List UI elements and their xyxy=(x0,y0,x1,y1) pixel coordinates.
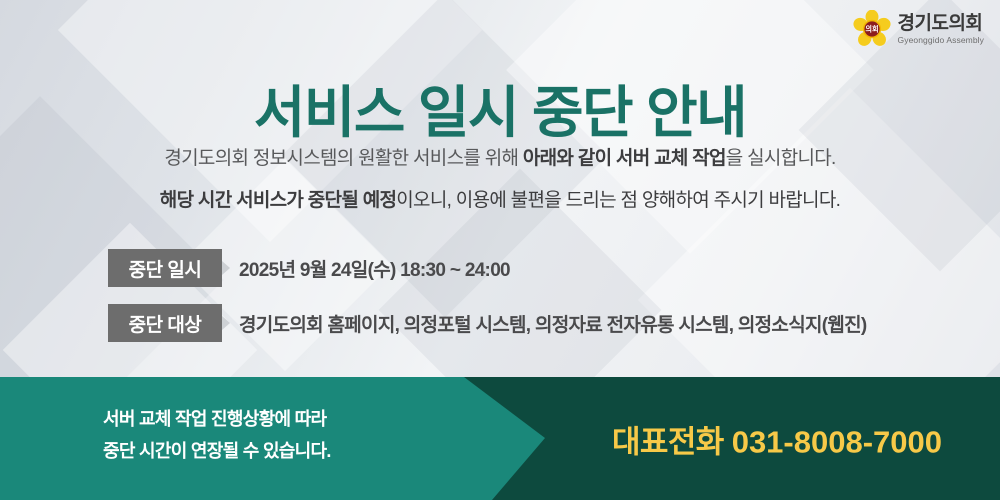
notice-p2-emphasis: 해당 시간 서비스가 중단될 예정 xyxy=(160,190,396,211)
notice-p1-prefix: 경기도의회 정보시스템의 원활한 서비스를 위해 xyxy=(164,148,523,169)
service-outage-notice-banner: 의회 경기도의회 Gyeonggido Assembly 서비스 일시 중단 안… xyxy=(0,0,1000,500)
notice-p1-emphasis: 아래와 같이 서버 교체 작업 xyxy=(523,148,726,169)
detail-row: 중단 대상 경기도의회 홈페이지, 의정포털 시스템, 의정자료 전자유통 시스… xyxy=(108,304,867,342)
assembly-logo: 의회 경기도의회 Gyeonggido Assembly xyxy=(853,10,984,48)
page-title: 서비스 일시 중단 안내 xyxy=(0,82,1000,144)
detail-value-text: 경기도의회 홈페이지, 의정포털 시스템, 의정자료 전자유통 시스템, 의정소… xyxy=(239,310,867,337)
footer-note-line-1: 서버 교체 작업 진행상황에 따라 xyxy=(103,404,331,436)
outage-detail-list: 중단 일시 2025년 9월 24일(수) 18:30 ~ 24:00 중단 대… xyxy=(108,249,867,359)
phone-number: 031-8008-7000 xyxy=(732,424,942,459)
logo-name-en: Gyeonggido Assembly xyxy=(898,36,984,45)
footer-note: 서버 교체 작업 진행상황에 따라 중단 시간이 연장될 수 있습니다. xyxy=(103,404,331,467)
logo-wordmark: 경기도의회 Gyeonggido Assembly xyxy=(898,14,984,45)
detail-row: 중단 일시 2025년 9월 24일(수) 18:30 ~ 24:00 xyxy=(108,249,867,287)
footer-bar: 서버 교체 작업 진행상황에 따라 중단 시간이 연장될 수 있습니다. 대표전… xyxy=(0,377,1000,500)
logo-name-ko: 경기도의회 xyxy=(898,14,984,33)
notice-paragraph-2: 해당 시간 서비스가 중단될 예정이오니, 이용에 불편을 드리는 점 양해하여… xyxy=(0,188,1000,214)
notice-p1-suffix: 을 실시합니다. xyxy=(726,148,836,169)
detail-value-text: 2025년 9월 24일(수) 18:30 ~ 24:00 xyxy=(239,255,510,282)
notice-p2-suffix: 이오니, 이용에 불편을 드리는 점 양해하여 주시기 바랍니다. xyxy=(396,190,840,211)
detail-label-badge: 중단 대상 xyxy=(108,304,222,342)
contact-phone[interactable]: 대표전화 031-8008-7000 xyxy=(612,416,942,461)
emblem-label: 의회 xyxy=(865,25,878,34)
notice-paragraph-1: 경기도의회 정보시스템의 원활한 서비스를 위해 아래와 같이 서버 교체 작업… xyxy=(0,146,1000,172)
detail-label-badge: 중단 일시 xyxy=(108,249,222,287)
footer-note-line-2: 중단 시간이 연장될 수 있습니다. xyxy=(103,436,331,468)
flower-emblem-icon: 의회 xyxy=(853,10,891,48)
notice-body: 경기도의회 정보시스템의 원활한 서비스를 위해 아래와 같이 서버 교체 작업… xyxy=(0,146,1000,229)
phone-label: 대표전화 xyxy=(612,424,724,459)
